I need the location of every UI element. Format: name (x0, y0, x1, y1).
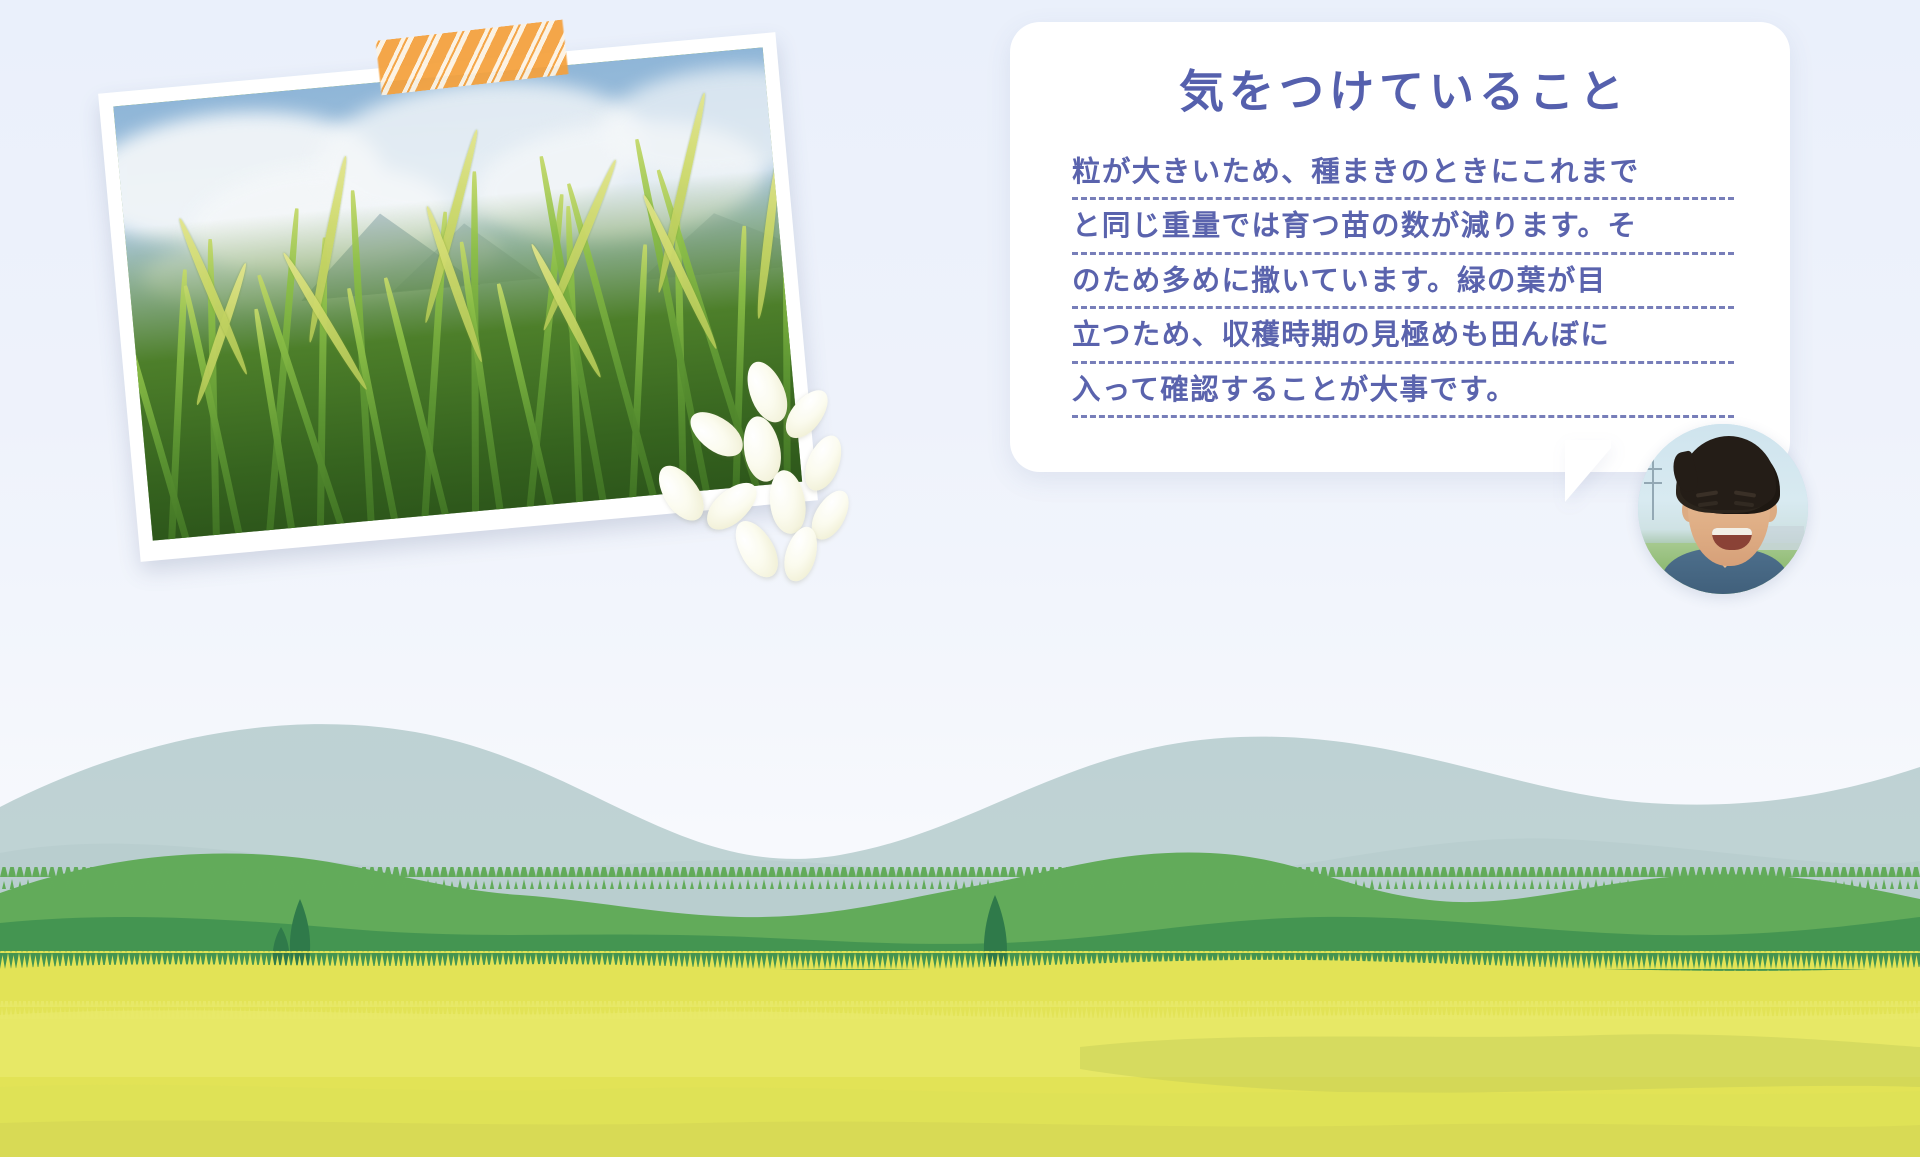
speech-bubble: 気をつけていること 粒が大きいため、種まきのときにこれまで と同じ重量では育つ苗… (1010, 22, 1790, 472)
body-line: 立つため、収穫時期の見極めも田んぼに (1072, 313, 1734, 368)
photo-block (118, 22, 808, 557)
page-title-text: 気をつけていること (1179, 65, 1629, 118)
dashed-rule (1072, 197, 1734, 200)
dashed-rule (1072, 415, 1734, 418)
power-pole-icon (1652, 458, 1654, 520)
body-line-text: 入って確認することが大事です。 (1072, 373, 1516, 406)
dashed-rule (1072, 306, 1734, 309)
photo-frame (98, 32, 818, 562)
body-line: と同じ重量では育つ苗の数が減ります。そ (1072, 204, 1734, 259)
rice-paddy-photo (113, 47, 802, 540)
body-line: 粒が大きいため、種まきのときにこれまで (1072, 150, 1734, 205)
body-line-text: 粒が大きいため、種まきのときにこれまで (1072, 155, 1640, 188)
dashed-rule (1072, 361, 1734, 364)
body-line-text: 立つため、収穫時期の見極めも田んぼに (1072, 318, 1610, 351)
dashed-rule (1072, 252, 1734, 255)
page-title: 気をつけていること (1175, 66, 1635, 124)
body-line: 入って確認することが大事です。 (1072, 368, 1734, 423)
landscape-illustration (0, 617, 1920, 1157)
speech-bubble-tail (1565, 440, 1611, 502)
bubble-title-row: 気をつけていること (1072, 66, 1734, 124)
body-line: のため多めに撒いています。緑の葉が目 (1072, 259, 1734, 314)
body-line-text: のため多めに撒いています。緑の葉が目 (1072, 264, 1607, 297)
bubble-body: 粒が大きいため、種まきのときにこれまで と同じ重量では育つ苗の数が減ります。そ … (1072, 150, 1734, 423)
avatar (1638, 424, 1808, 594)
body-line-text: と同じ重量では育つ苗の数が減ります。そ (1072, 209, 1637, 242)
rice-blade (783, 195, 791, 500)
page-root: 気をつけていること 粒が大きいため、種まきのときにこれまで と同じ重量では育つ苗… (0, 0, 1920, 1157)
